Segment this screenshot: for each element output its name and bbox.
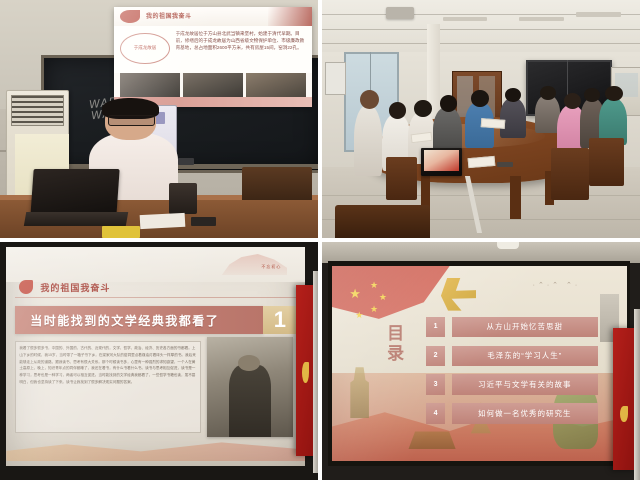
ceiling-line — [322, 43, 640, 44]
collage-photo-bottom-right: ★ ★ ★ ★ ★ ·⌃·⌃ ⌃· 目录 1 从方山开始忆苦思甜 2 毛泽东 — [322, 242, 640, 480]
section-number-text: 1 — [274, 309, 286, 331]
slide-thumbnail — [120, 73, 179, 97]
chair — [551, 148, 589, 200]
table-leg — [510, 176, 521, 219]
slide-header-title: 我的祖国我奋斗 — [40, 281, 110, 294]
toc-item-label: 从方山开始忆苦思甜 — [452, 317, 598, 337]
hammer-sickle-icon — [120, 10, 140, 23]
collage-photo-top-right — [322, 0, 640, 238]
chair — [589, 138, 624, 186]
floor-tile-line — [322, 195, 640, 196]
slide-title-banner: 当时能找到的文学经典我都看了 — [15, 306, 263, 334]
photo-collage: WADH WADH 我的祖国我奋斗 于成龙故居 于成龙故居位于方山县北武当镇来堡… — [0, 0, 640, 480]
photo-figure-head — [238, 355, 261, 371]
flag-star-icon: ★ — [349, 287, 361, 300]
slide-body-text: 于成龙故居位于方山县北武当镇来堡村，始建于清代早期。目前，修缮后的于成龙故居为山… — [176, 30, 306, 69]
flag-star-icon: ★ — [379, 293, 387, 302]
papers — [140, 213, 185, 230]
hammer-sickle-icon — [441, 278, 476, 311]
hammer-sickle-icon — [620, 406, 628, 422]
section-number-badge: 1 — [263, 306, 296, 334]
toc-item-index: 1 — [426, 317, 445, 337]
slide-text-box: 我看了很多很多书，中国的、外国的、古代的、近现代的，文学、哲学、政治、经济、历史… — [15, 341, 200, 433]
eyeglasses — [108, 115, 155, 127]
slide-header: 我的祖国我奋斗 — [15, 277, 296, 298]
slide-hills-decor — [332, 399, 628, 461]
person-seated — [500, 98, 525, 138]
gate-label: 不忘初心 — [261, 264, 281, 270]
slide-thumbnail-row — [120, 73, 305, 97]
slide-thumbnail — [183, 73, 242, 97]
slide-ground-decor — [332, 373, 628, 461]
toc-item-index: 2 — [426, 346, 445, 366]
flag-pole — [634, 309, 640, 480]
remote-control — [497, 162, 513, 167]
flag-star-icon: ★ — [370, 305, 378, 314]
stone-lion-icon — [553, 383, 597, 449]
slide-title-text: 当时能找到的文学经典我都看了 — [30, 312, 219, 329]
chair-back — [242, 167, 312, 200]
person-head — [605, 86, 622, 101]
projection-screen-bottom-left: 不忘初心 我的祖国我奋斗 当时能找到的文学经典我都看了 1 我看了很多很多书，中… — [6, 247, 305, 466]
slide-thumbnail — [246, 73, 305, 97]
toc-heading: 目录 — [379, 324, 414, 363]
person-head — [389, 102, 406, 119]
toc-item: 2 毛泽东的“学习人生” — [426, 346, 598, 366]
foreground-chair — [335, 205, 430, 238]
person-head — [505, 88, 521, 102]
notice-board — [325, 62, 346, 95]
mobile-phone — [191, 217, 216, 227]
slide-footer-wave-decor — [6, 435, 305, 461]
toc-list: 1 从方山开始忆苦思甜 2 毛泽东的“学习人生” 3 习近平与文学有关的故事 4… — [426, 317, 598, 424]
ceiling-fan — [519, 17, 564, 22]
slide-header: 我的祖国我奋斗 — [114, 7, 311, 27]
person-head — [471, 90, 488, 107]
chinese-flag-decor — [332, 266, 450, 332]
hammer-sickle-icon — [302, 362, 309, 383]
ceiling-line — [322, 29, 640, 30]
slide-header-title: 我的祖国我奋斗 — [146, 11, 192, 20]
ceiling-projector — [386, 7, 415, 19]
flag-pole — [313, 271, 318, 473]
toc-item: 1 从方山开始忆苦思甜 — [426, 317, 598, 337]
toc-item-label: 如何做一名优秀的研究生 — [452, 403, 598, 423]
toc-item: 4 如何做一名优秀的研究生 — [426, 403, 598, 423]
flying-birds-icon: ·⌃·⌃ ⌃· — [533, 281, 604, 301]
desk-speaker — [169, 183, 198, 214]
slide-circle-label: 于成龙故居 — [120, 33, 169, 64]
toc-item-index: 3 — [426, 374, 445, 394]
ceiling-lamp — [497, 242, 519, 249]
ceiling-fan — [443, 17, 488, 22]
laptop-screen — [424, 150, 459, 171]
eraser — [178, 158, 194, 165]
slide-body-text: 我看了很多很多书，中国的、外国的、古代的、近现代的，文学、哲学、政治、经济、历史… — [19, 345, 196, 429]
toc-item-label: 毛泽东的“学习人生” — [452, 346, 598, 366]
person-head — [440, 95, 457, 112]
pagoda-icon — [468, 402, 495, 445]
ceiling-fan — [576, 12, 621, 17]
laptop — [30, 169, 119, 217]
slide-body: 于成龙故居 于成龙故居位于方山县北武当镇来堡村，始建于清代早期。目前，修缮后的于… — [114, 26, 311, 73]
chair — [386, 157, 418, 200]
slide-header-corner-decor — [268, 7, 311, 26]
person-head — [540, 86, 556, 100]
toc-item-index: 4 — [426, 403, 445, 423]
pagoda-tower-icon — [346, 367, 373, 418]
yellow-box — [102, 226, 140, 238]
hammer-sickle-icon — [19, 280, 33, 294]
flag-star-icon: ★ — [355, 311, 363, 320]
person-standing — [354, 105, 383, 176]
papers — [481, 118, 506, 129]
projection-screen-bottom-right: ★ ★ ★ ★ ★ ·⌃·⌃ ⌃· 目录 1 从方山开始忆苦思甜 2 毛泽东 — [332, 266, 628, 461]
slide-top-strip — [6, 247, 305, 282]
slide-circle-label-text: 于成龙故居 — [134, 45, 157, 51]
person-head — [414, 100, 431, 117]
collage-photo-top-left: WADH WADH 我的祖国我奋斗 于成龙故居 于成龙故居位于方山县北武当镇来堡… — [0, 0, 318, 238]
collage-photo-bottom-left: 不忘初心 我的祖国我奋斗 当时能找到的文学经典我都看了 1 我看了很多很多书，中… — [0, 242, 318, 480]
ceiling — [322, 0, 640, 52]
slide-vintage-photo — [207, 337, 294, 438]
temple-roof-icon — [408, 424, 455, 449]
toc-item-label: 习近平与文学有关的故事 — [452, 374, 598, 394]
slide-sky-background — [332, 266, 628, 373]
laptop-base — [24, 212, 128, 226]
air-conditioner-vent — [11, 95, 64, 126]
tiananmen-gate-icon — [222, 251, 288, 275]
projection-screen-top-left: 我的祖国我奋斗 于成龙故居 于成龙故居位于方山县北武当镇来堡村，始建于清代早期。… — [114, 7, 311, 107]
photo-figure — [229, 365, 271, 438]
toc-item: 3 习近平与文学有关的故事 — [426, 374, 598, 394]
flag-star-icon: ★ — [370, 281, 378, 290]
